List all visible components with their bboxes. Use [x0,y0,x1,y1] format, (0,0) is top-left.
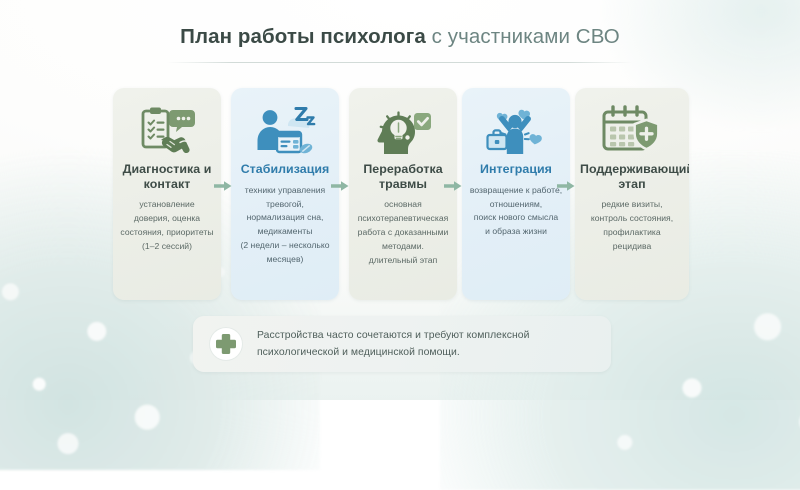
step-card-title: Переработка травмы [354,162,452,191]
step-card-podderzhivayushchiy-etap[interactable]: Поддерживающий этап редкие визиты, контр… [575,88,689,300]
arrow-right-icon [331,180,349,192]
calendar-shield-plus-icon [580,101,684,159]
page-title-light: с участниками СВО [426,25,620,48]
title-block: План работы психолога с участниками СВО [0,26,800,49]
arrow-right-icon [214,180,232,192]
bottom-note-banner: Расстройства часто сочетаются и требуют … [193,316,611,372]
bottom-note-line-2: психологической и медицинской помощи. [257,344,529,361]
arrow-right-icon [444,180,462,192]
arrow-right-icon [557,180,575,192]
step-card-description: редкие визиты, контроль состояния, профи… [580,198,684,254]
head-lightbulb-check-icon [354,101,452,159]
step-card-title: Поддерживающий этап [580,162,684,191]
clipboard-checklist-handshake-icon [118,101,216,159]
step-card-stabilizaciya[interactable]: Стабилизация техники управления тревогой… [231,88,339,300]
step-card-description: возвращение к работе, отношениям, поиск … [467,184,565,240]
step-card-title: Интеграция [467,162,565,177]
step-card-description: техники управления тревогой, нормализаци… [236,184,334,268]
step-card-description: основная психотерапевтическая работа с д… [354,198,452,268]
step-card-title: Диагностика и контакт [118,162,216,191]
step-card-integraciya[interactable]: Интеграция возвращение к работе, отношен… [462,88,570,300]
person-arms-up-hearts-briefcase-icon [467,101,565,159]
step-card-pererabotka-travmy[interactable]: Переработка травмы основная психотерапев… [349,88,457,300]
bottom-note-text: Расстройства часто сочетаются и требуют … [257,327,529,362]
step-card-diagnostika[interactable]: Диагностика и контакт установление довер… [113,88,221,300]
step-card-title: Стабилизация [236,162,334,177]
medical-plus-icon [209,327,243,361]
page-title: План работы психолога с участниками СВО [0,26,800,49]
bottom-note-line-1: Расстройства часто сочетаются и требуют … [257,327,529,344]
title-divider [167,62,633,63]
person-sleep-medication-icon [236,101,334,159]
step-card-description: установление доверия, оценка состояния, … [118,198,216,254]
infographic-page: План работы психолога с участниками СВО [0,0,800,400]
page-title-strong: План работы психолога [180,25,426,48]
steps-row: Диагностика и контакт установление довер… [0,88,800,300]
